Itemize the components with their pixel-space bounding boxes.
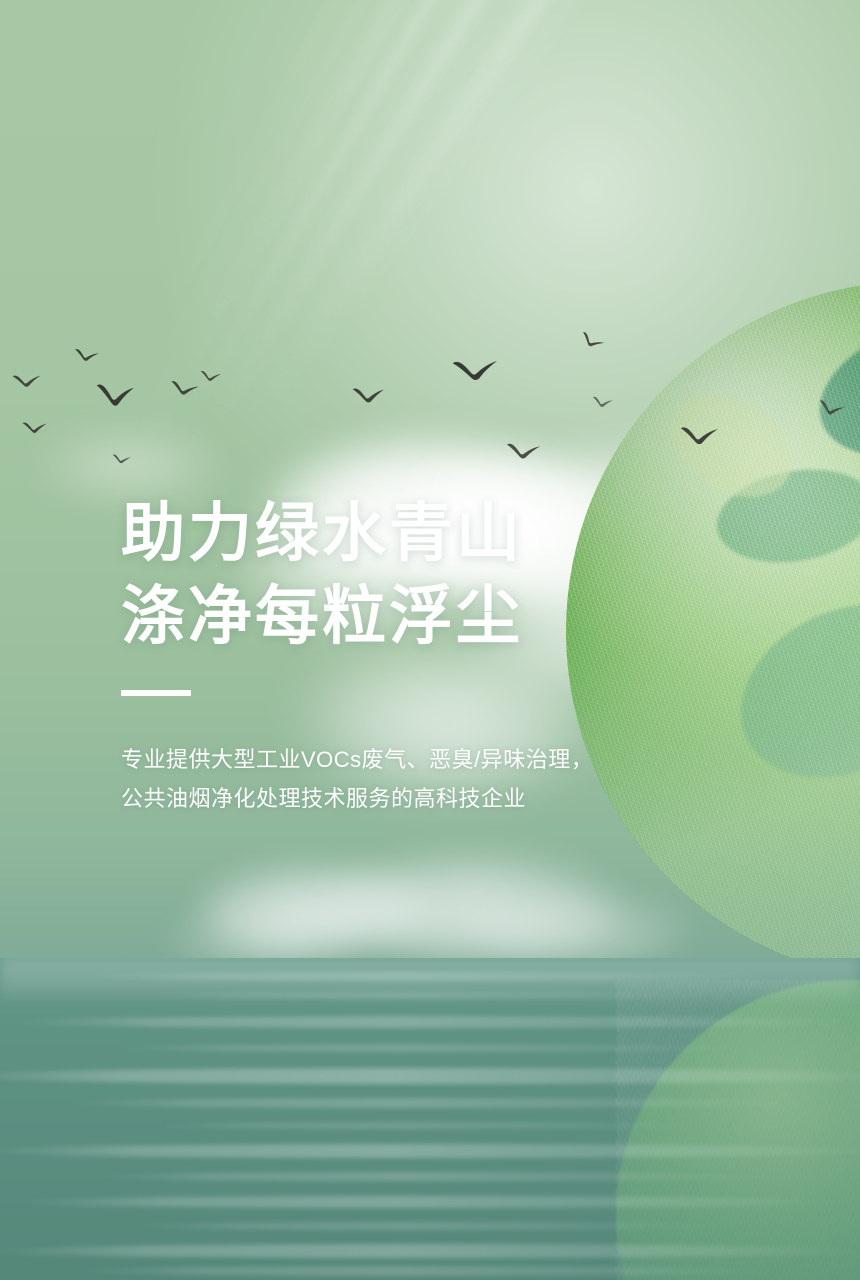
headline-divider (121, 690, 191, 696)
subtitle-line-1: 专业提供大型工业VOCs废气、恶臭/异味治理， (121, 740, 681, 779)
bird-icon (506, 437, 543, 460)
water-ripple (74, 1266, 787, 1276)
headline-line-2: 涤净每粒浮尘 (121, 575, 681, 658)
water-ripple (93, 1172, 767, 1181)
bird-icon (21, 417, 48, 435)
bird-flock (0, 330, 470, 475)
bird-icon (200, 368, 222, 383)
bird-icon (169, 376, 201, 397)
hero-banner: 助力绿水青山 涤净每粒浮尘 专业提供大型工业VOCs废气、恶臭/异味治理， 公共… (0, 0, 860, 1280)
bird-icon (95, 375, 137, 409)
bird-icon (592, 393, 615, 409)
water-ripple (6, 1016, 854, 1028)
water-ripple (64, 1098, 796, 1108)
horizon-mist (0, 958, 860, 1000)
water-ripple (131, 1222, 728, 1230)
water-ripple (112, 1044, 748, 1052)
water-veil (0, 958, 860, 1280)
water-ripple (0, 1144, 860, 1158)
water-ripple (0, 1068, 860, 1084)
headline-line-1: 助力绿水青山 (121, 492, 681, 575)
bird-icon (73, 345, 100, 363)
water-surface (0, 958, 860, 1280)
bird-icon (11, 368, 43, 389)
bird-icon (112, 451, 133, 464)
water-ripple (0, 1244, 860, 1258)
bird-icon (679, 419, 721, 448)
water-ripple (16, 1196, 844, 1208)
bird-icon (351, 381, 387, 406)
hero-copy: 助力绿水青山 涤净每粒浮尘 专业提供大型工业VOCs废气、恶臭/异味治理， 公共… (121, 492, 681, 818)
subtitle-line-2: 公共油烟净化处理技术服务的高科技企业 (121, 779, 681, 818)
water-ripple (151, 1122, 710, 1129)
